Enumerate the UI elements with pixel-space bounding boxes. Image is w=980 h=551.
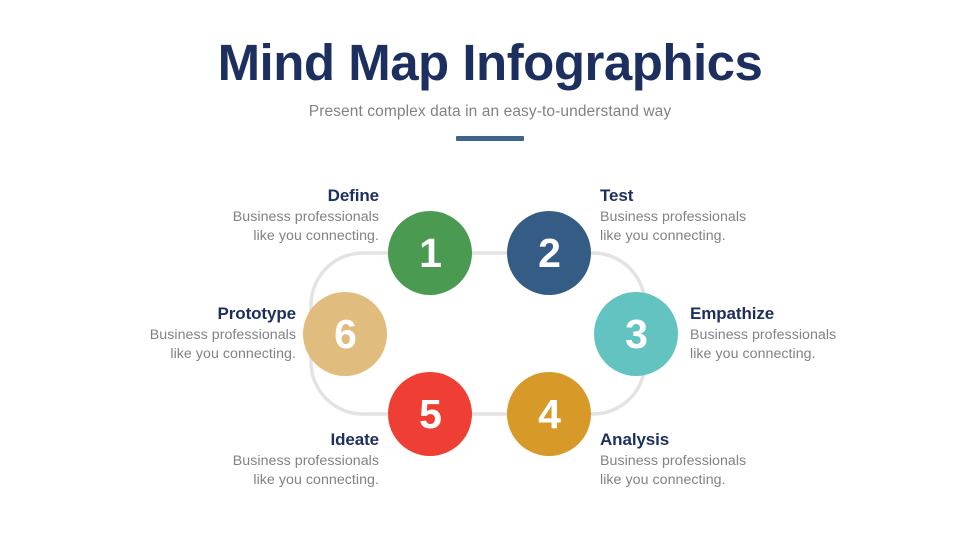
node-number-4: 4 bbox=[538, 394, 560, 435]
node-title-prototype: Prototype bbox=[81, 304, 296, 324]
node-body-test-line1: Business professionals bbox=[600, 208, 815, 226]
node-body-define-line2: like you connecting. bbox=[164, 227, 379, 245]
node-body-empathize-line2: like you connecting. bbox=[690, 345, 905, 363]
node-body-prototype-line1: Business professionals bbox=[81, 326, 296, 344]
connector-path-icon bbox=[0, 0, 980, 551]
node-title-empathize: Empathize bbox=[690, 304, 905, 324]
node-number-2: 2 bbox=[538, 233, 560, 274]
mind-map-diagram: 1 2 3 4 5 6 Define Business professional… bbox=[0, 0, 980, 551]
node-circle-1[interactable]: 1 bbox=[388, 211, 472, 295]
node-circle-2[interactable]: 2 bbox=[507, 211, 591, 295]
node-body-prototype-line2: like you connecting. bbox=[81, 345, 296, 363]
node-circle-4[interactable]: 4 bbox=[507, 372, 591, 456]
node-title-ideate: Ideate bbox=[164, 430, 379, 450]
node-number-6: 6 bbox=[334, 314, 356, 355]
node-number-3: 3 bbox=[625, 314, 647, 355]
node-body-analysis-line1: Business professionals bbox=[600, 452, 815, 470]
node-label-analysis: Analysis Business professionals like you… bbox=[600, 430, 815, 489]
node-body-ideate-line2: like you connecting. bbox=[164, 471, 379, 489]
node-body-empathize-line1: Business professionals bbox=[690, 326, 905, 344]
node-title-analysis: Analysis bbox=[600, 430, 815, 450]
node-circle-6[interactable]: 6 bbox=[303, 292, 387, 376]
node-body-ideate-line1: Business professionals bbox=[164, 452, 379, 470]
slide-canvas: Mind Map Infographics Present complex da… bbox=[0, 0, 980, 551]
node-number-1: 1 bbox=[419, 233, 441, 274]
node-circle-5[interactable]: 5 bbox=[388, 372, 472, 456]
node-label-ideate: Ideate Business professionals like you c… bbox=[164, 430, 379, 489]
node-title-define: Define bbox=[164, 186, 379, 206]
node-body-test-line2: like you connecting. bbox=[600, 227, 815, 245]
node-body-define-line1: Business professionals bbox=[164, 208, 379, 226]
node-circle-3[interactable]: 3 bbox=[594, 292, 678, 376]
node-label-prototype: Prototype Business professionals like yo… bbox=[81, 304, 296, 363]
node-body-analysis-line2: like you connecting. bbox=[600, 471, 815, 489]
node-number-5: 5 bbox=[419, 394, 441, 435]
node-label-test: Test Business professionals like you con… bbox=[600, 186, 815, 245]
node-title-test: Test bbox=[600, 186, 815, 206]
node-label-define: Define Business professionals like you c… bbox=[164, 186, 379, 245]
node-label-empathize: Empathize Business professionals like yo… bbox=[690, 304, 905, 363]
